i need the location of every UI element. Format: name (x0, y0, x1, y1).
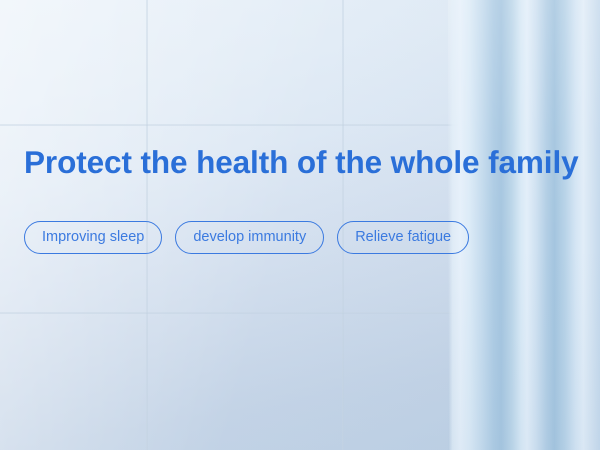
promo-banner: Protect the health of the whole family I… (0, 0, 600, 450)
banner-content: Protect the health of the whole family I… (24, 0, 600, 450)
tag-pill-improving-sleep[interactable]: Improving sleep (24, 221, 162, 254)
tag-pill-relieve-fatigue[interactable]: Relieve fatigue (337, 221, 469, 254)
tag-pill-develop-immunity[interactable]: develop immunity (175, 221, 324, 254)
tag-pill-row: Improving sleep develop immunity Relieve… (24, 221, 469, 254)
headline-text: Protect the health of the whole family (24, 145, 579, 180)
